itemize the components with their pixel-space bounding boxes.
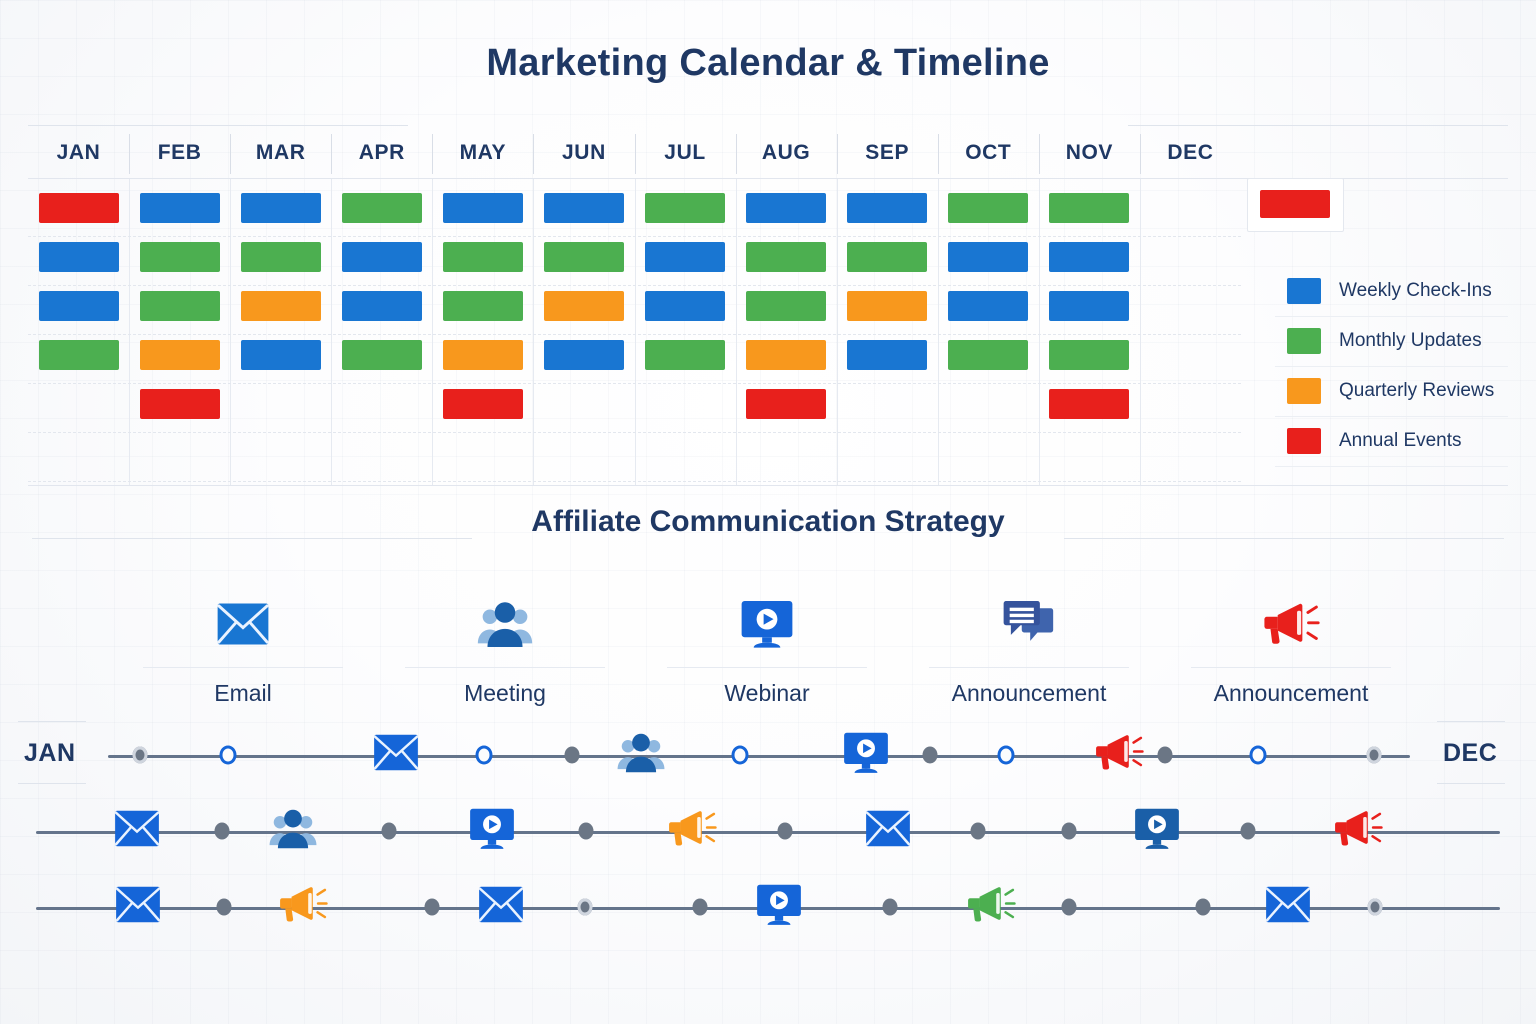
timeline-marker-solid[interactable] [923,747,938,764]
calendar-month-nov[interactable]: NOV [1039,130,1140,178]
calendar-bar-weekly[interactable] [241,340,321,370]
grid-column-line [736,179,737,485]
calendar-bar-weekly[interactable] [948,291,1028,321]
timeline-meeting-icon[interactable] [616,728,666,783]
channel-label: Announcement [1160,680,1422,707]
timeline-marker-solid[interactable] [693,899,708,916]
legend-label: Weekly Check-Ins [1339,280,1492,302]
calendar-bar-annual[interactable] [39,193,119,223]
timeline-marker-solid[interactable] [883,899,898,916]
timeline-marker-solid[interactable] [1241,823,1256,840]
megaphone-icon [1160,585,1422,663]
legend-item-weekly[interactable]: Weekly Check-Ins [1287,266,1492,316]
timeline-marker-hollow[interactable] [476,746,493,765]
timeline-marker-solid[interactable] [1196,899,1211,916]
timeline-marker-hollow[interactable] [732,746,749,765]
timeline-row-0: JAN DEC [0,725,1536,789]
calendar-bar-quarterly[interactable] [544,291,624,321]
calendar-month-dec[interactable]: DEC [1140,130,1241,178]
timeline-meeting-icon[interactable] [268,804,318,859]
grid-row-line [28,285,1241,286]
calendar-bar-weekly[interactable] [544,193,624,223]
email-icon [112,585,374,663]
calendar-bar-weekly[interactable] [342,242,422,272]
calendar-month-jul[interactable]: JUL [635,130,736,178]
calendar-bar-monthly[interactable] [39,340,119,370]
calendar-bar-monthly[interactable] [342,340,422,370]
timeline-axis [108,755,1410,758]
timeline-email-icon[interactable] [113,880,163,935]
calendar-month-sep[interactable]: SEP [837,130,938,178]
infographic-canvas: Marketing Calendar & Timeline JANFEBMARA… [0,0,1536,1024]
timeline-megaphone-icon[interactable] [966,880,1016,935]
timeline-marker-ring[interactable] [133,747,148,764]
grid-row-line [28,236,1241,237]
channel-label: Email [112,680,374,707]
timeline-marker-solid[interactable] [579,823,594,840]
calendar-bar-weekly[interactable] [241,193,321,223]
timeline-end-label: DEC [1443,739,1497,768]
calendar-bar-quarterly[interactable] [443,340,523,370]
strategy-title: Affiliate Communication Strategy [0,505,1536,539]
grid-column-line [1140,179,1141,485]
legend-item-monthly[interactable]: Monthly Updates [1287,316,1482,366]
timeline-email-icon[interactable] [863,804,913,859]
month-column-separator [837,134,838,174]
timeline-marker-ring[interactable] [1367,747,1382,764]
calendar-bar-monthly[interactable] [948,340,1028,370]
channel-card-4[interactable]: Announcement [1160,585,1422,707]
timeline-webinar-icon[interactable] [841,728,891,783]
calendar-bar-monthly[interactable] [544,242,624,272]
timeline-marker-solid[interactable] [217,899,232,916]
timeline-marker-solid[interactable] [1062,823,1077,840]
grid-column-line [230,179,231,485]
timeline-marker-ring[interactable] [578,899,593,916]
month-column-separator [432,134,433,174]
grid-row-line [28,432,1241,433]
month-column-separator [230,134,231,174]
calendar-bar-monthly[interactable] [645,340,725,370]
timeline-marker-solid[interactable] [425,899,440,916]
timeline-webinar-icon[interactable] [467,804,517,859]
timeline-megaphone-icon[interactable] [1333,804,1383,859]
grid-column-line [533,179,534,485]
grid-row-line [28,383,1241,384]
calendar-month-oct[interactable]: OCT [938,130,1039,178]
calendar-bar-weekly[interactable] [847,340,927,370]
timeline-marker-solid[interactable] [778,823,793,840]
legend-item-annual[interactable]: Annual Events [1287,416,1462,466]
timeline-marker-solid[interactable] [215,823,230,840]
calendar-bar-weekly[interactable] [847,193,927,223]
month-column-separator [1039,134,1040,174]
timeline-marker-solid[interactable] [1158,747,1173,764]
timeline-row-2 [0,877,1536,941]
channel-row: Email Meeting Webinar Announcement Annou… [112,585,1422,720]
calendar-grid [28,179,1241,485]
month-column-separator [736,134,737,174]
page-title-area: Marketing Calendar & Timeline [0,42,1536,85]
timeline-row-1 [0,801,1536,865]
timeline-marker-solid[interactable] [971,823,986,840]
channel-label: Meeting [374,680,636,707]
calendar-bar-weekly[interactable] [443,193,523,223]
calendar-bar-monthly[interactable] [443,291,523,321]
chat-icon [898,585,1160,663]
channel-card-1[interactable]: Meeting [374,585,636,707]
calendar-bar-weekly[interactable] [39,242,119,272]
calendar-bar-monthly[interactable] [948,193,1028,223]
grid-column-line [1039,179,1040,485]
grid-column-line [635,179,636,485]
timeline-rows: JAN DEC [0,725,1536,955]
calendar-bar-monthly[interactable] [140,291,220,321]
timeline-webinar-icon[interactable] [754,880,804,935]
grid-row-line [28,334,1241,335]
timeline-megaphone-icon[interactable] [667,804,717,859]
timeline-marker-hollow[interactable] [998,746,1015,765]
month-column-separator [129,134,130,174]
legend-swatch-monthly [1287,328,1321,354]
meeting-icon [374,585,636,663]
timeline-email-icon[interactable] [476,880,526,935]
calendar-bar-weekly[interactable] [140,193,220,223]
timeline-marker-solid[interactable] [565,747,580,764]
calendar-bar-monthly[interactable] [746,291,826,321]
calendar-bar-annual[interactable] [1049,389,1129,419]
start-label-rule-top [18,721,86,722]
timeline-marker-ring[interactable] [1368,899,1383,916]
timeline-megaphone-icon[interactable] [278,880,328,935]
channel-card-0[interactable]: Email [112,585,374,707]
calendar-bar-monthly[interactable] [342,193,422,223]
timeline-email-icon[interactable] [1263,880,1313,935]
calendar-bar-weekly[interactable] [544,340,624,370]
timeline-marker-solid[interactable] [1062,899,1077,916]
timeline-start-label: JAN [24,739,76,768]
channel-rule [143,667,343,668]
channel-card-2[interactable]: Webinar [636,585,898,707]
legend-divider [1275,466,1508,467]
page-title: Marketing Calendar & Timeline [486,42,1049,85]
channel-label: Announcement [898,680,1160,707]
month-column-separator [635,134,636,174]
legend-label: Annual Events [1339,430,1462,452]
webinar-icon [636,585,898,663]
timeline-megaphone-icon[interactable] [1094,728,1144,783]
calendar-bar-monthly[interactable] [645,193,725,223]
calendar-month-aug[interactable]: AUG [736,130,837,178]
legend-swatch-weekly [1287,278,1321,304]
calendar-bar-quarterly[interactable] [746,340,826,370]
channel-rule [929,667,1129,668]
calendar-month-mar[interactable]: MAR [230,130,331,178]
legend-swatch-annual [1287,428,1321,454]
month-column-separator [331,134,332,174]
timeline-email-icon[interactable] [112,804,162,859]
legend-item-quarterly[interactable]: Quarterly Reviews [1287,366,1494,416]
timeline-email-icon[interactable] [371,728,421,783]
start-label-rule-bottom [18,783,86,784]
calendar-bar-quarterly[interactable] [140,340,220,370]
month-column-separator [533,134,534,174]
calendar-month-header-row: JANFEBMARAPRMAYJUNJULAUGSEPOCTNOVDEC [28,130,1241,178]
calendar-bar-weekly[interactable] [645,242,725,272]
calendar-bar-monthly[interactable] [1049,193,1129,223]
calendar-bar-weekly[interactable] [1049,242,1129,272]
timeline-marker-hollow[interactable] [1250,746,1267,765]
legend-highlight-box [1247,178,1344,232]
timeline-marker-solid[interactable] [382,823,397,840]
calendar-month-feb[interactable]: FEB [129,130,230,178]
calendar-bar-monthly[interactable] [241,242,321,272]
grid-row-line [28,481,1241,482]
calendar-bar-monthly[interactable] [1049,340,1129,370]
channel-rule [405,667,605,668]
grid-column-line [432,179,433,485]
grid-column-line [938,179,939,485]
channel-label: Webinar [636,680,898,707]
month-column-separator [938,134,939,174]
timeline-webinar-icon[interactable] [1132,804,1182,859]
calendar-bar-monthly[interactable] [746,242,826,272]
calendar-bottom-divider [28,485,1508,486]
channel-card-3[interactable]: Announcement [898,585,1160,707]
channel-rule [667,667,867,668]
calendar-bar-weekly[interactable] [1049,291,1129,321]
calendar-month-jan[interactable]: JAN [28,130,129,178]
calendar-bar-weekly[interactable] [645,291,725,321]
calendar-bar-weekly[interactable] [746,193,826,223]
calendar-month-apr[interactable]: APR [331,130,432,178]
calendar-bar-quarterly[interactable] [847,291,927,321]
calendar-bar-weekly[interactable] [342,291,422,321]
calendar-bar-annual[interactable] [443,389,523,419]
grid-column-line [837,179,838,485]
calendar-bar-monthly[interactable] [443,242,523,272]
grid-column-line [129,179,130,485]
calendar-bar-monthly[interactable] [140,242,220,272]
timeline-marker-hollow[interactable] [220,746,237,765]
calendar-bar-quarterly[interactable] [241,291,321,321]
calendar-month-may[interactable]: MAY [432,130,533,178]
calendar-bar-weekly[interactable] [948,242,1028,272]
grid-column-line [331,179,332,485]
calendar-month-jun[interactable]: JUN [533,130,634,178]
calendar-bar-annual[interactable] [746,389,826,419]
end-label-rule-top [1437,721,1505,722]
month-column-separator [1140,134,1141,174]
legend-highlight-swatch [1260,190,1330,218]
title-rule-right [1128,125,1508,126]
legend-label: Monthly Updates [1339,330,1482,352]
legend-swatch-quarterly [1287,378,1321,404]
calendar-bar-weekly[interactable] [39,291,119,321]
calendar-bar-monthly[interactable] [847,242,927,272]
legend-label: Quarterly Reviews [1339,380,1494,402]
channel-rule [1191,667,1391,668]
timeline-axis [36,831,1500,834]
calendar-bar-annual[interactable] [140,389,220,419]
end-label-rule-bottom [1437,783,1505,784]
title-rule-left [28,125,408,126]
